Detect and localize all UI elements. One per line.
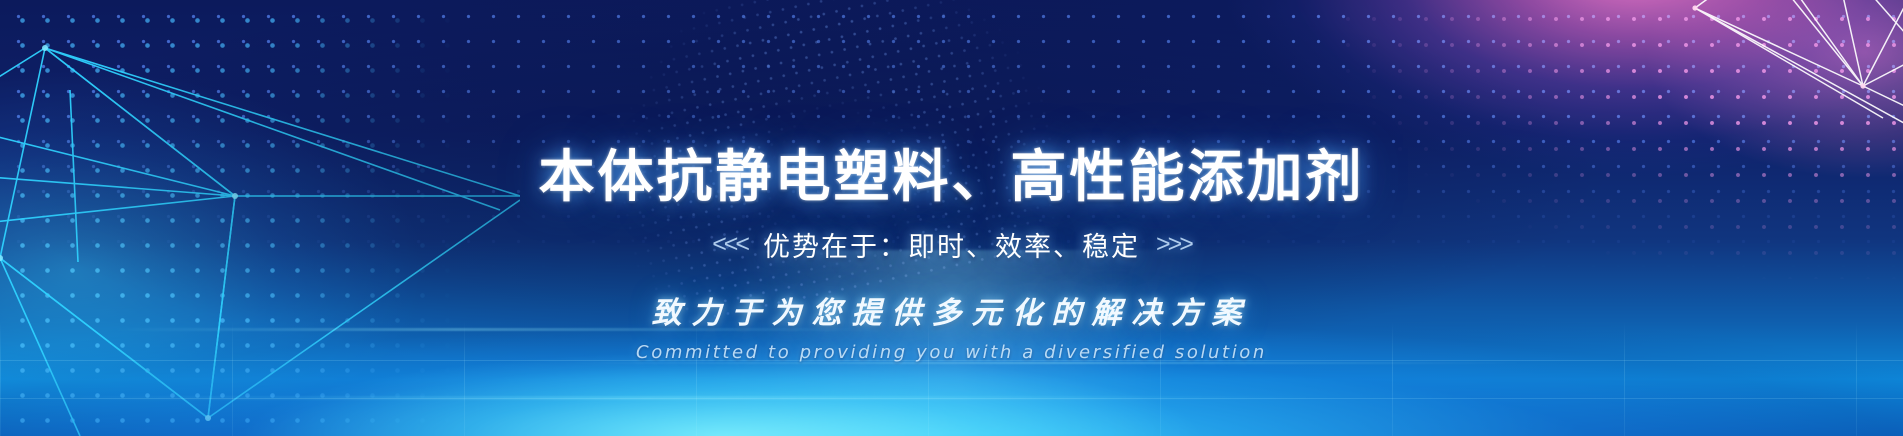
banner-content: 本体抗静电塑料、高性能添加剂 <<< 优势在于：即时、效率、稳定 >>> 致力于…: [0, 0, 1903, 436]
banner-tagline-cn: 致力于为您提供多元化的解决方案: [652, 288, 1252, 332]
banner-headline: 本体抗静电塑料、高性能添加剂: [539, 148, 1365, 205]
chevron-right-icon: >>>: [1156, 230, 1191, 259]
banner-subtitle-row: <<< 优势在于：即时、效率、稳定 >>>: [712, 225, 1191, 264]
hero-banner: 本体抗静电塑料、高性能添加剂 <<< 优势在于：即时、效率、稳定 >>> 致力于…: [0, 0, 1903, 436]
banner-subtitle: 优势在于：即时、效率、稳定: [763, 225, 1140, 264]
chevron-left-icon: <<<: [712, 230, 747, 259]
banner-tagline-en: Committed to providing you with a divers…: [636, 342, 1267, 363]
